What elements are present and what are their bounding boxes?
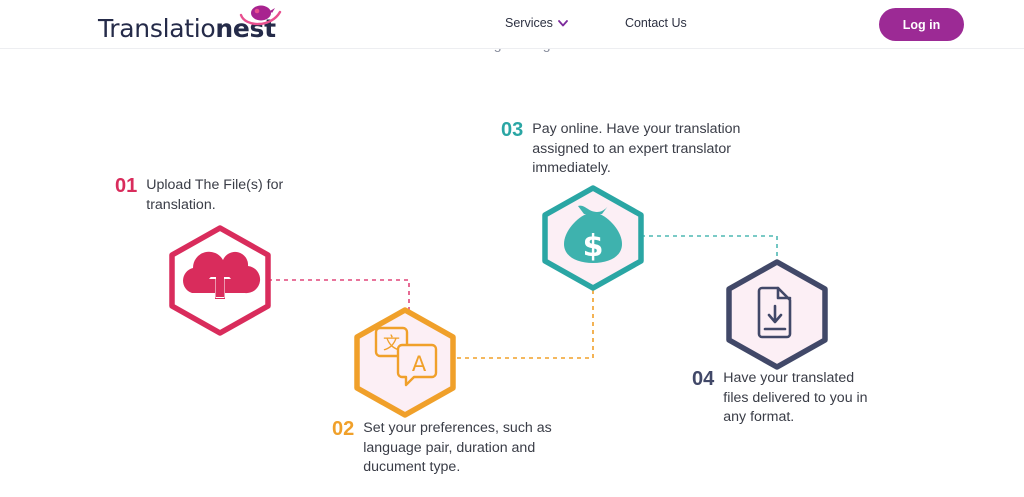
connector-3-to-4	[641, 236, 777, 262]
step-4-hexagon[interactable]	[729, 262, 825, 367]
site-header: Translationest Services Contact Us Log i…	[0, 0, 1024, 49]
process-diagram: 文 A $	[0, 0, 1024, 497]
connector-1-to-2	[268, 280, 409, 312]
bird-nest-icon	[237, 5, 283, 27]
step-3-hexagon[interactable]: $	[545, 188, 641, 288]
chevron-down-icon	[558, 18, 568, 28]
svg-text:A: A	[412, 352, 427, 376]
step-2-hexagon[interactable]: 文 A	[357, 310, 453, 415]
login-button[interactable]: Log in	[879, 8, 964, 41]
logo-text-light: Translatio	[98, 14, 215, 43]
logo[interactable]: Translationest	[98, 8, 276, 42]
main-nav: Services Contact Us	[505, 16, 687, 30]
page-root: on the go as it gets.	[0, 0, 1024, 497]
svg-text:$: $	[583, 229, 604, 264]
nav-item-services[interactable]: Services	[505, 16, 568, 30]
step-1-hexagon[interactable]	[172, 228, 268, 333]
nav-item-contact-us[interactable]: Contact Us	[625, 16, 687, 30]
nav-item-contact-us-label: Contact Us	[625, 16, 687, 30]
connector-2-to-3	[457, 288, 593, 358]
nav-item-services-label: Services	[505, 16, 553, 30]
